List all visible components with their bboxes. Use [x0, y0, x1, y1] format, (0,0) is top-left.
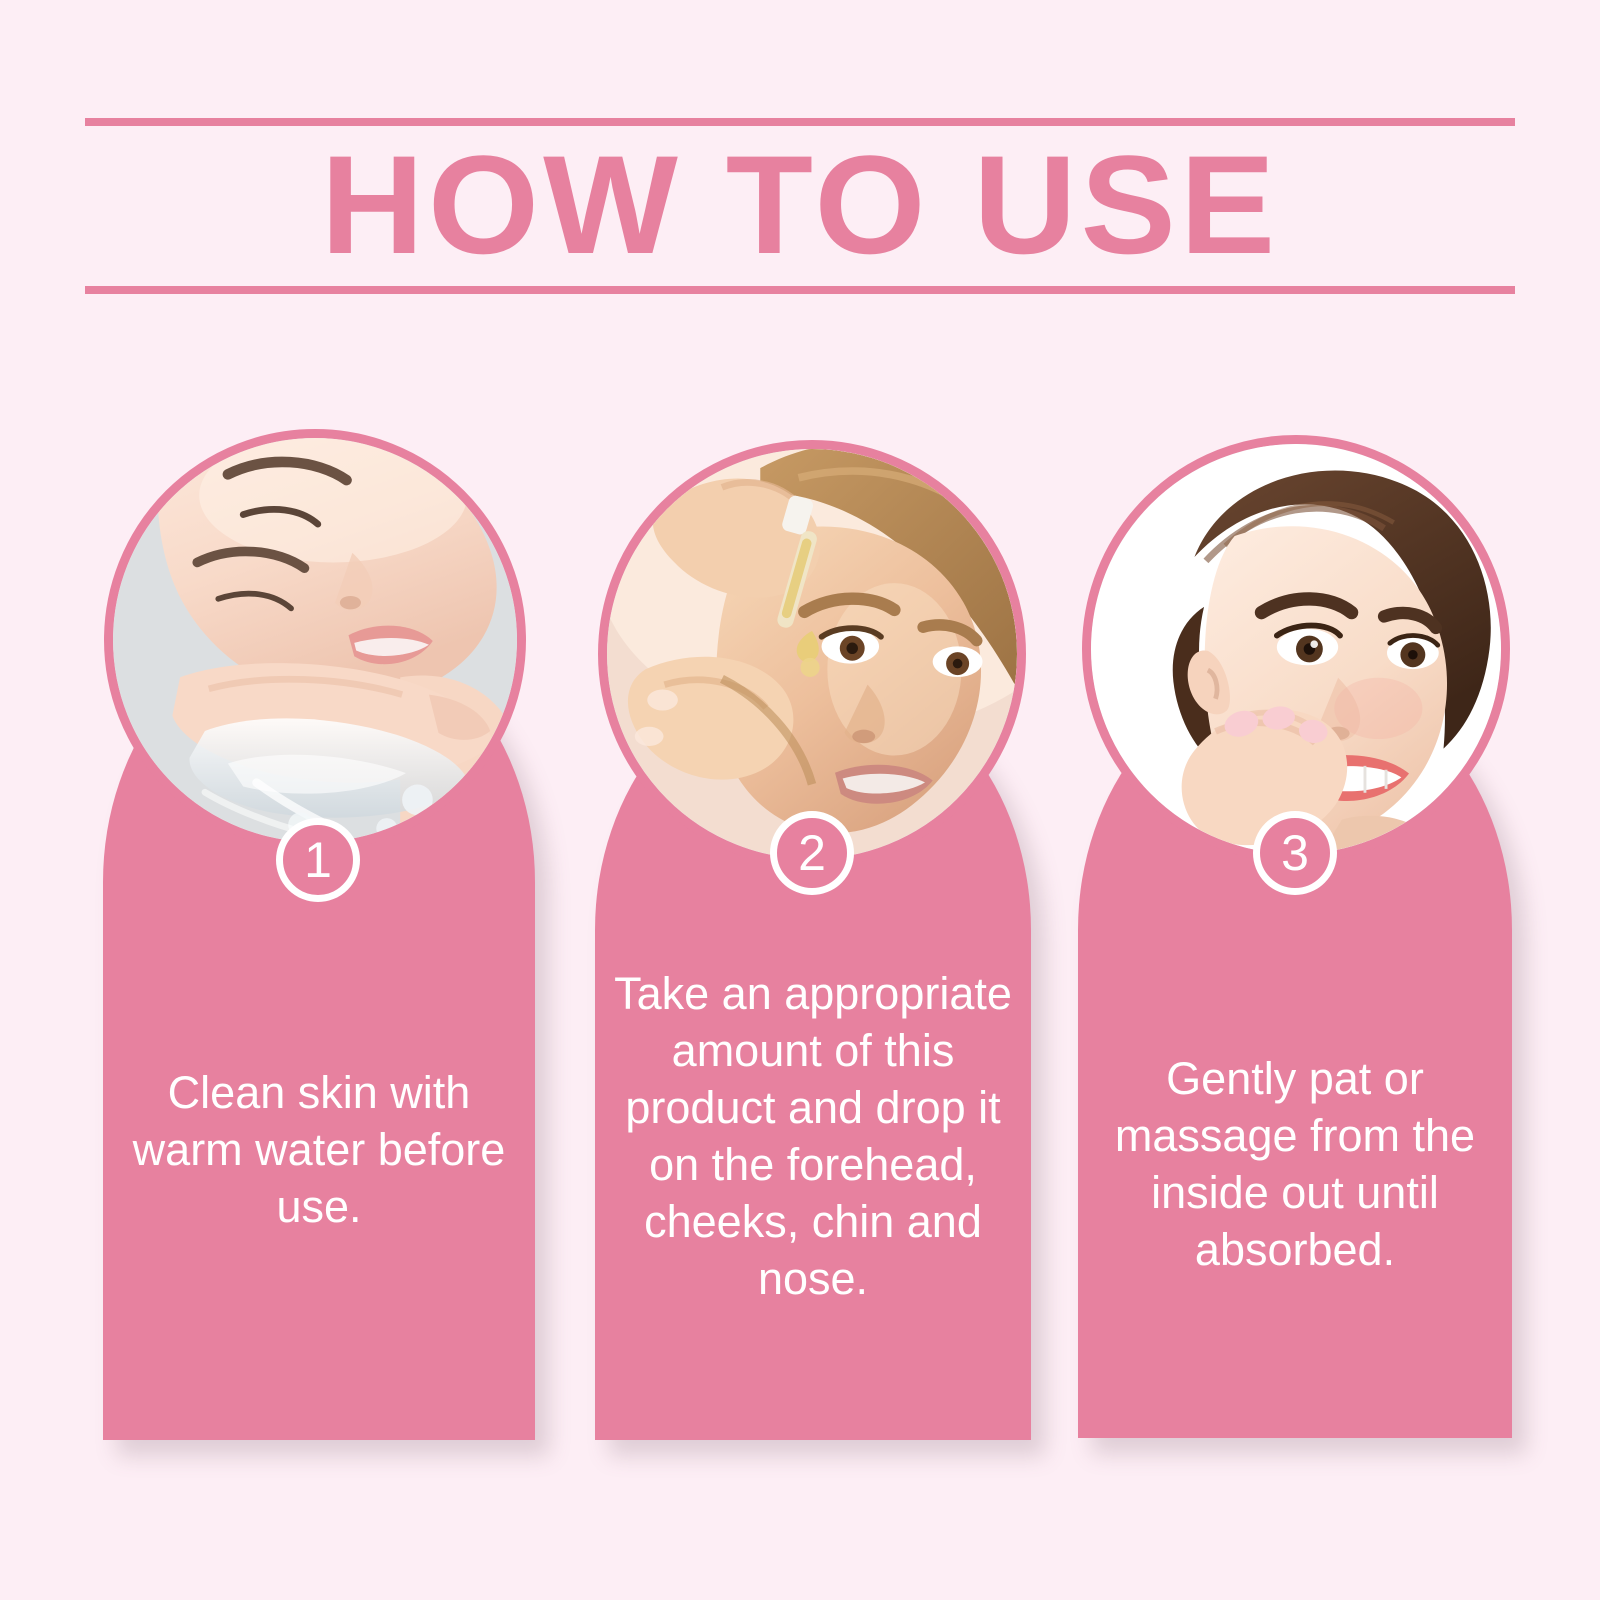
step-2-badge: 2 — [770, 811, 854, 895]
header-rule-bottom — [85, 286, 1515, 294]
step-2-caption: Take an appropriate amount of this produ… — [606, 965, 1020, 1307]
woman-applying-serum-icon — [607, 449, 1017, 859]
step-2-photo — [598, 440, 1026, 868]
step-3-badge: 3 — [1253, 811, 1337, 895]
page-title: HOW TO USE — [71, 130, 1530, 280]
step-1-caption: Clean skin with warm water before use. — [118, 1064, 520, 1235]
step-3-caption: Gently pat or massage from the inside ou… — [1090, 1050, 1500, 1278]
step-1-badge: 1 — [276, 818, 360, 902]
page-header: HOW TO USE — [85, 110, 1515, 300]
header-rule-top — [85, 118, 1515, 126]
woman-massaging-cheek-icon — [1091, 444, 1501, 854]
woman-splashing-water-icon — [113, 438, 517, 842]
step-1-photo — [104, 429, 526, 851]
step-3-photo — [1082, 435, 1510, 863]
